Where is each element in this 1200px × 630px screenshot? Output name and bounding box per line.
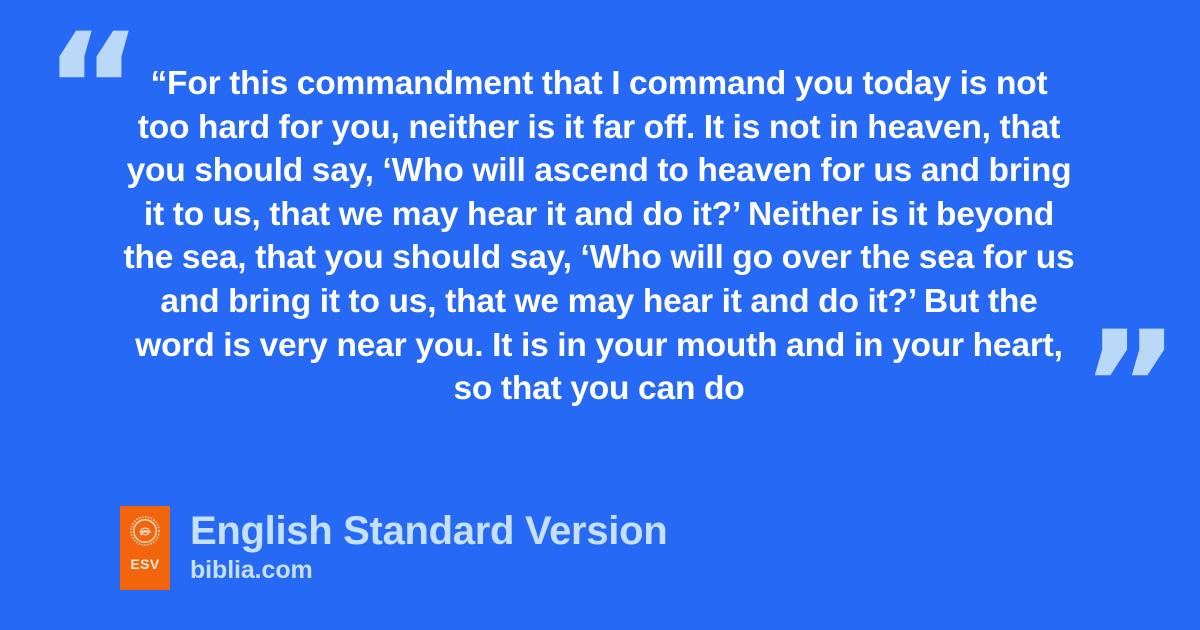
source-site-url[interactable]: biblia.com <box>190 556 667 585</box>
bible-verse-card: “ “For this commandment that I command y… <box>0 0 1200 630</box>
attribution-footer: ESV English Standard Version biblia.com <box>120 506 667 590</box>
verse-text: “For this commandment that I command you… <box>118 62 1080 411</box>
esv-seal-emblem-icon <box>130 516 160 546</box>
close-quote-icon: ” <box>1081 312 1177 462</box>
esv-logo-abbreviation: ESV <box>130 557 159 571</box>
attribution-text-group: English Standard Version biblia.com <box>190 506 667 585</box>
quote-block: “For this commandment that I command you… <box>118 62 1080 411</box>
esv-logo-badge: ESV <box>120 506 170 590</box>
bible-version-name: English Standard Version <box>190 508 667 555</box>
